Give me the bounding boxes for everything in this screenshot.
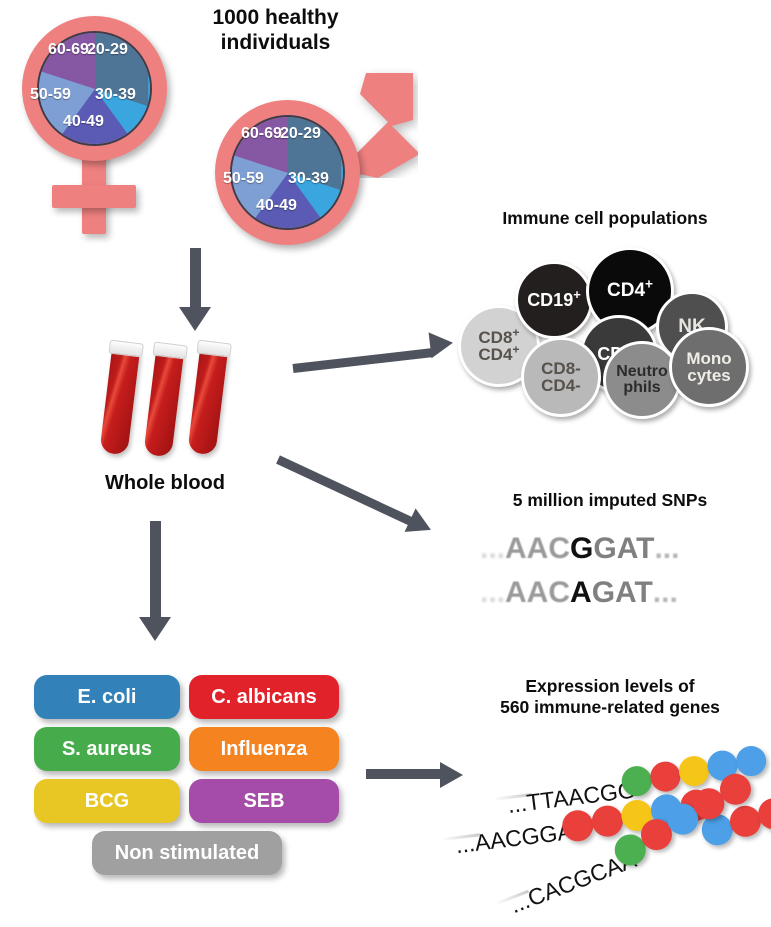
stimulation-label: Non stimulated <box>115 842 259 865</box>
snp-prefix: ... <box>480 532 505 566</box>
immune-cell-cd19: CD19+ <box>515 261 593 339</box>
cell-label-line1: Mono <box>686 350 731 367</box>
arrow-shaft <box>292 348 432 373</box>
snp-prefix: ... <box>480 576 505 610</box>
immune-section-title: Immune cell populations <box>460 208 750 229</box>
stimulation-panel: E. coli C. albicans S. aureus Influenza … <box>34 675 344 895</box>
cell-label-line1: CD8- <box>541 360 581 377</box>
male-pie-label-40-49: 40-49 <box>256 197 297 215</box>
cell-label-line1: Neutro <box>616 364 668 380</box>
arrow-head <box>139 617 171 641</box>
arrow-shaft <box>366 769 442 779</box>
stimulation-s-aureus[interactable]: S. aureus <box>34 727 180 771</box>
rna-bead <box>649 760 682 793</box>
snp-lead: AAC <box>505 532 570 566</box>
arrow-shaft <box>150 521 161 620</box>
blood-tube-1 <box>99 340 147 463</box>
immune-cell-neutrophils: Neutro phils <box>603 341 681 419</box>
male-symbol: 20-29 30-39 40-49 50-59 60-69 <box>196 60 426 260</box>
stimulation-label: Influenza <box>221 738 308 761</box>
rna-bead <box>734 744 767 777</box>
page-title-line2: individuals <box>168 31 383 56</box>
male-pie-label-20-29: 20-29 <box>280 125 321 143</box>
snp-suffix: ... <box>653 576 678 610</box>
stimulation-label: C. albicans <box>211 686 317 709</box>
female-pie-label-50-59: 50-59 <box>30 86 71 104</box>
snp-variant-allele: A <box>570 576 592 610</box>
snp-tail: GAT <box>592 576 653 610</box>
arrow-shaft <box>190 248 201 311</box>
immune-cell-cluster: CD8+ CD4+ CD19+ CD4+ CD8+ NK CD8- CD4- N… <box>455 245 755 415</box>
stimulation-c-albicans[interactable]: C. albicans <box>189 675 339 719</box>
expression-title-line2: 560 immune-related genes <box>460 697 760 718</box>
female-pie-label-30-39: 30-39 <box>95 86 136 104</box>
arrow-head <box>179 307 211 331</box>
stimulation-label: S. aureus <box>62 738 152 761</box>
male-pie-label-50-59: 50-59 <box>223 170 264 188</box>
stimulation-bcg[interactable]: BCG <box>34 779 180 823</box>
snp-section-title: 5 million imputed SNPs <box>470 490 750 511</box>
expression-title-line1: Expression levels of <box>460 676 760 697</box>
immune-cell-monocytes: Mono cytes <box>669 327 749 407</box>
stimulation-label: BCG <box>85 790 129 813</box>
male-pie-label-60-69: 60-69 <box>241 125 282 143</box>
expression-section-title: Expression levels of 560 immune-related … <box>460 676 760 717</box>
female-pie-label-40-49: 40-49 <box>63 113 104 131</box>
page-title-line1: 1000 healthy <box>168 6 383 31</box>
snp-suffix: ... <box>654 532 679 566</box>
snp-row-alternate: ...AACAGAT... <box>480 576 678 610</box>
snp-tail: GAT <box>593 532 654 566</box>
snp-lead: AAC <box>505 576 570 610</box>
stimulation-seb[interactable]: SEB <box>189 779 339 823</box>
female-symbol-crossbar <box>52 185 136 208</box>
cell-label-line2: cytes <box>687 367 730 384</box>
blood-tube-body <box>143 351 183 458</box>
blood-tube-body <box>187 349 227 456</box>
snp-sequences: ...AACGGAT... ...AACAGAT... <box>480 532 750 622</box>
cell-label-line2: CD4- <box>541 377 581 394</box>
female-pie-label-20-29: 20-29 <box>87 41 128 59</box>
arrow-head <box>429 330 455 358</box>
cell-label-line2: phils <box>623 380 660 396</box>
cell-label: CD4+ <box>607 281 653 300</box>
blood-tube-2 <box>143 342 191 465</box>
stimulation-label: SEB <box>243 790 284 813</box>
cell-label-line2: CD4+ <box>478 346 519 363</box>
rna-strands: ...TTAACGG ...AACGGAT ...CACGCAA <box>440 735 771 922</box>
page-title: 1000 healthy individuals <box>168 6 383 56</box>
female-symbol: 20-29 30-39 40-49 50-59 60-69 <box>10 8 190 243</box>
male-pie-label-30-39: 30-39 <box>288 170 329 188</box>
arrow-head <box>405 508 437 541</box>
stimulation-non-stimulated[interactable]: Non stimulated <box>92 831 282 875</box>
stimulation-label: E. coli <box>78 686 137 709</box>
cell-label: CD19+ <box>527 291 581 309</box>
blood-tube-3 <box>187 340 235 463</box>
blood-tube-body <box>99 349 139 456</box>
stimulation-influenza[interactable]: Influenza <box>189 727 339 771</box>
blood-tubes <box>105 340 255 465</box>
snp-variant-allele: G <box>570 532 593 566</box>
arrow-shaft <box>276 455 420 529</box>
immune-cell-cd8-cd4-double-negative: CD8- CD4- <box>521 337 601 417</box>
snp-row-reference: ...AACGGAT... <box>480 532 679 566</box>
stimulation-e-coli[interactable]: E. coli <box>34 675 180 719</box>
whole-blood-label: Whole blood <box>75 472 255 496</box>
female-pie-label-60-69: 60-69 <box>48 41 89 59</box>
rna-bead <box>677 754 710 787</box>
